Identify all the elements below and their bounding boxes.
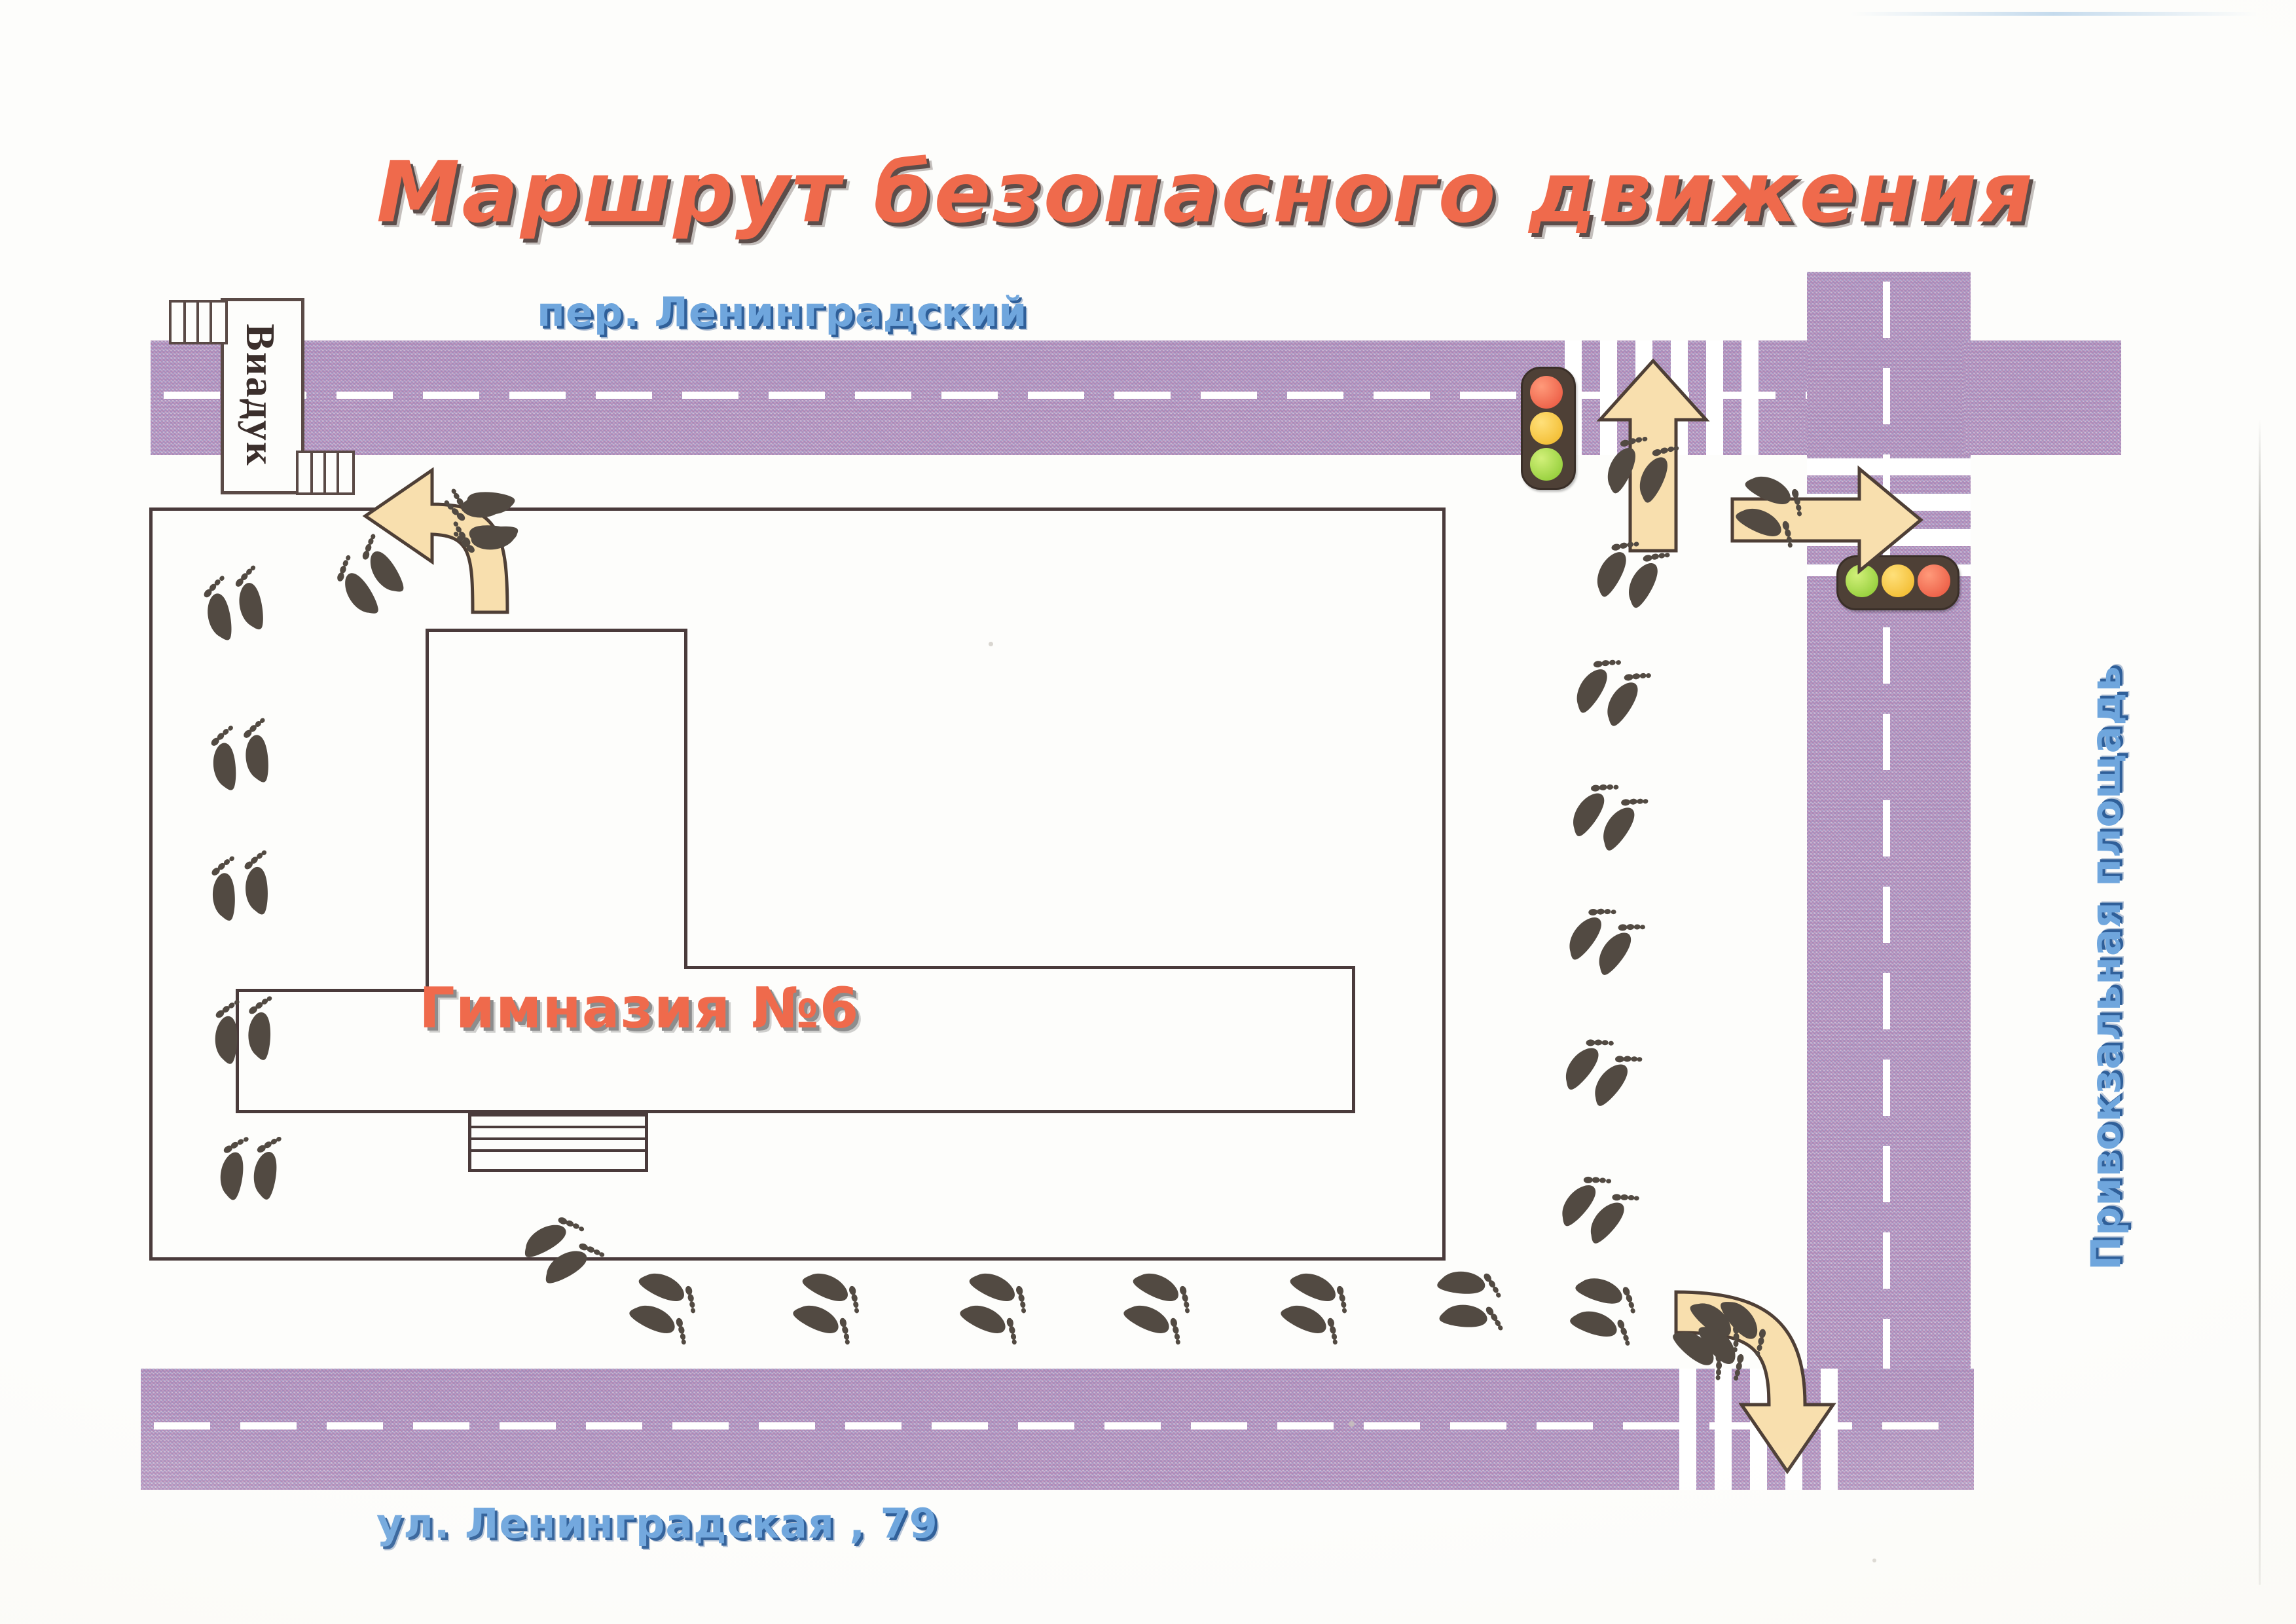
footprint-pair bbox=[1554, 1019, 1647, 1115]
viaduct-label: Виадук bbox=[236, 302, 283, 489]
footprint-pair bbox=[1550, 1156, 1645, 1253]
footprint-pair bbox=[1601, 422, 1679, 506]
footprint-pair bbox=[1567, 642, 1654, 732]
footprint-pair bbox=[1559, 889, 1649, 983]
scan-top-streak bbox=[1851, 12, 2257, 16]
road-right-spur bbox=[1964, 341, 2121, 455]
building-edge-top bbox=[426, 629, 687, 632]
street-label-top: пер. Ленинградский bbox=[537, 288, 1027, 336]
footprint-pair bbox=[957, 1266, 1040, 1345]
page-title: Маршрут безопасного движения bbox=[376, 144, 2035, 242]
traffic-light-green-lamp bbox=[1530, 448, 1563, 481]
footprint-pair bbox=[1563, 765, 1651, 857]
building-edge-right-upper bbox=[684, 629, 687, 969]
footprint-pair bbox=[1589, 526, 1671, 612]
footprint-pair bbox=[1567, 1272, 1647, 1346]
scan-paper-edge bbox=[2259, 419, 2261, 1585]
scan-speck bbox=[1872, 1559, 1876, 1562]
traffic-light-yellow-lamp bbox=[1530, 412, 1563, 445]
building-edge-notch bbox=[684, 966, 1355, 969]
footprint-pair bbox=[1120, 1266, 1203, 1345]
footprint-pair bbox=[1732, 470, 1815, 548]
viaduct-stairs-left bbox=[169, 300, 228, 344]
traffic-light-red-lamp bbox=[1530, 376, 1563, 409]
footprint-pair bbox=[626, 1266, 709, 1345]
street-label-right: Привокзальная площадь bbox=[2082, 665, 2130, 1270]
school-steps bbox=[468, 1113, 648, 1172]
building-edge-right-lower bbox=[1352, 966, 1355, 1113]
footprint-pair bbox=[1277, 1266, 1360, 1345]
traffic-light-vertical bbox=[1521, 367, 1576, 490]
school-label: Гимназия №6 bbox=[419, 976, 860, 1041]
building-edge-left-upper bbox=[426, 629, 429, 989]
scan-speck bbox=[989, 642, 993, 646]
street-label-bottom: ул. Ленинградская , 79 bbox=[376, 1500, 938, 1547]
viaduct-stairs-right bbox=[296, 451, 355, 495]
footprint-pair bbox=[1427, 1255, 1520, 1344]
safe-route-map-page: Гимназия №6 Виадук bbox=[0, 0, 2296, 1624]
scan-speck bbox=[1349, 1421, 1355, 1427]
building-edge-bottom bbox=[236, 1110, 1355, 1113]
footprint-pair bbox=[790, 1266, 873, 1345]
